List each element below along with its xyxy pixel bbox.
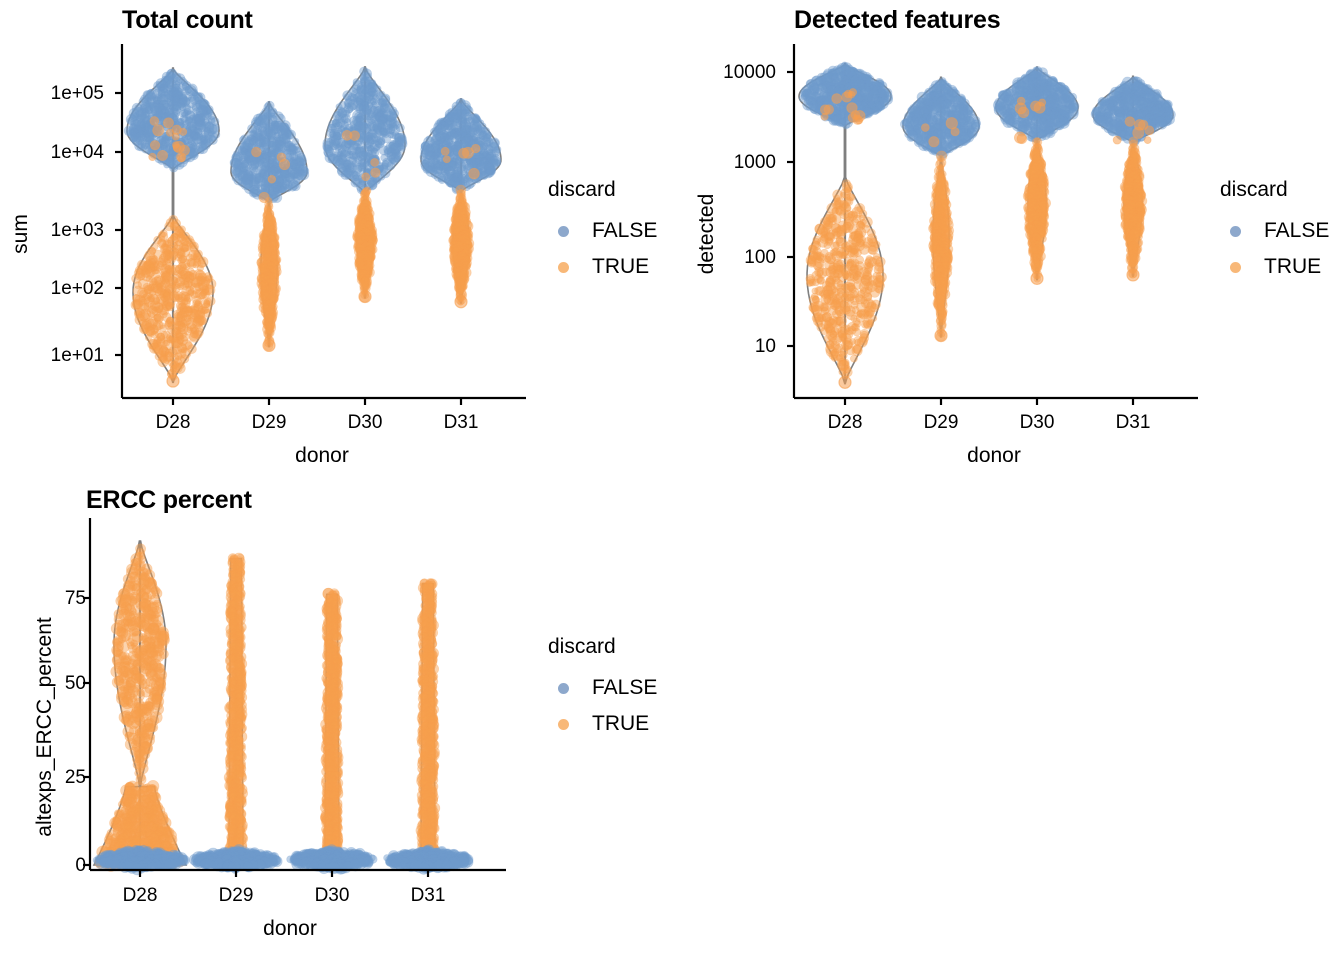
xtick-label: D31: [393, 885, 463, 907]
xtick-label: D29: [201, 885, 271, 907]
legend-item-true[interactable]: TRUE: [550, 711, 649, 737]
legend-key-false: [1222, 218, 1248, 244]
xtick-label: D31: [1098, 412, 1168, 434]
panel-empty: [672, 480, 1344, 960]
legend-label-true: TRUE: [592, 255, 649, 279]
panel-total-count: Total count 1e+05 1e+04 1e+03 1e+02 1e+0…: [0, 0, 672, 480]
legend-item-false[interactable]: FALSE: [550, 675, 657, 701]
ytick-label: 10000: [684, 62, 776, 84]
legend-item-false[interactable]: FALSE: [1222, 218, 1329, 244]
x-axis-label: donor: [122, 444, 522, 468]
xtick-label: D31: [426, 412, 496, 434]
xtick-label: D28: [138, 412, 208, 434]
legend-key-true: [1222, 254, 1248, 280]
x-axis-label: donor: [794, 444, 1194, 468]
figure-grid: Total count 1e+05 1e+04 1e+03 1e+02 1e+0…: [0, 0, 1344, 960]
xtick-label: D30: [297, 885, 367, 907]
ytick-label: 10: [684, 336, 776, 358]
legend-title: discard: [548, 178, 616, 202]
legend-label-false: FALSE: [1264, 219, 1329, 243]
circle-icon: [558, 226, 569, 237]
legend-label-false: FALSE: [592, 219, 657, 243]
legend-label-true: TRUE: [592, 712, 649, 736]
legend-label-false: FALSE: [592, 676, 657, 700]
xtick-label: D30: [1002, 412, 1072, 434]
y-axis-label: detected: [695, 164, 719, 304]
y-axis-label: altexps_ERCC_percent: [33, 572, 57, 882]
legend-title: discard: [548, 635, 616, 659]
y-axis-label: sum: [9, 189, 33, 279]
legend-key-true: [550, 254, 576, 280]
legend-key-true: [550, 711, 576, 737]
ytick-label: 1e+01: [20, 345, 104, 367]
legend-item-true[interactable]: TRUE: [550, 254, 649, 280]
ytick-label: 1e+05: [20, 83, 104, 105]
xtick-label: D28: [105, 885, 175, 907]
legend-title: discard: [1220, 178, 1288, 202]
legend-item-false[interactable]: FALSE: [550, 218, 657, 244]
ytick-label: 1e+02: [20, 278, 104, 300]
legend-key-false: [550, 675, 576, 701]
circle-icon: [1230, 226, 1241, 237]
legend-label-true: TRUE: [1264, 255, 1321, 279]
xtick-label: D29: [234, 412, 304, 434]
circle-icon: [558, 683, 569, 694]
x-axis-label: donor: [90, 917, 490, 941]
circle-icon: [1230, 262, 1241, 273]
legend-key-false: [550, 218, 576, 244]
panel-ercc-percent: ERCC percent 75 50 25 0 altexps_ERCC_per…: [0, 480, 672, 960]
ytick-label: 1e+04: [20, 142, 104, 164]
circle-icon: [558, 262, 569, 273]
circle-icon: [558, 719, 569, 730]
legend-item-true[interactable]: TRUE: [1222, 254, 1321, 280]
panel-detected-features: Detected features 10000 1000 100 10 dete…: [672, 0, 1344, 480]
xtick-label: D30: [330, 412, 400, 434]
xtick-label: D29: [906, 412, 976, 434]
xtick-label: D28: [810, 412, 880, 434]
